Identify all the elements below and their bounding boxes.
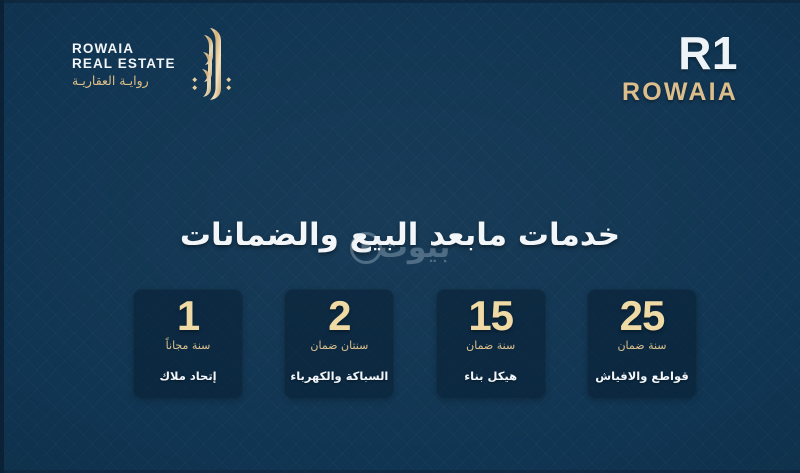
brand-name-en-line2: REAL ESTATE <box>72 57 176 72</box>
warranty-card-label: هيكل بناء <box>464 369 517 383</box>
warranty-card-term: سنة ضمان <box>466 339 515 352</box>
project-name: ROWAIA <box>622 80 738 105</box>
warranty-card-number: 2 <box>328 295 350 338</box>
warranty-card-number: 15 <box>468 295 513 338</box>
slide-canvas: ROWAIA REAL ESTATE روايـة العقاريـة R1 R… <box>0 0 800 473</box>
warranty-card-label: قواطع والافياش <box>595 369 688 383</box>
brand-text-block: ROWAIA REAL ESTATE روايـة العقاريـة <box>72 42 176 88</box>
rowaia-calligraphy-logo-icon <box>190 26 234 104</box>
project-code: R1 <box>622 30 738 76</box>
warranty-card-term: سنة ضمان <box>617 339 666 352</box>
brand-name-ar: روايـة العقاريـة <box>72 74 149 88</box>
warranty-card-term: سنة مجاناً <box>166 339 211 352</box>
warranty-card[interactable]: 25 سنة ضمان قواطع والافياش <box>587 289 697 399</box>
warranty-card-label: السباكة والكهرباء <box>290 369 388 383</box>
warranty-card-term: سنتان ضمان <box>310 339 368 352</box>
warranty-card[interactable]: 2 سنتان ضمان السباكة والكهرباء <box>284 289 394 399</box>
warranty-card-number: 25 <box>620 295 665 338</box>
warranty-cards-row: 1 سنة مجاناً إتحاد ملاك 2 سنتان ضمان الس… <box>133 289 697 399</box>
warranty-card-label: إتحاد ملاك <box>159 369 216 383</box>
brand-name-en-line1: ROWAIA <box>72 42 134 57</box>
project-lockup: R1 ROWAIA <box>622 30 738 105</box>
page-title: خدمات مابعد البيع والضمانات <box>180 217 620 253</box>
slide-header: ROWAIA REAL ESTATE روايـة العقاريـة R1 R… <box>0 0 800 118</box>
warranty-card[interactable]: 1 سنة مجاناً إتحاد ملاك <box>133 289 243 399</box>
brand-lockup: ROWAIA REAL ESTATE روايـة العقاريـة <box>72 26 234 104</box>
warranty-card-number: 1 <box>177 295 199 338</box>
warranty-card[interactable]: 15 سنة ضمان هيكل بناء <box>436 289 546 399</box>
title-section: خدمات مابعد البيع والضمانات <box>0 196 800 274</box>
